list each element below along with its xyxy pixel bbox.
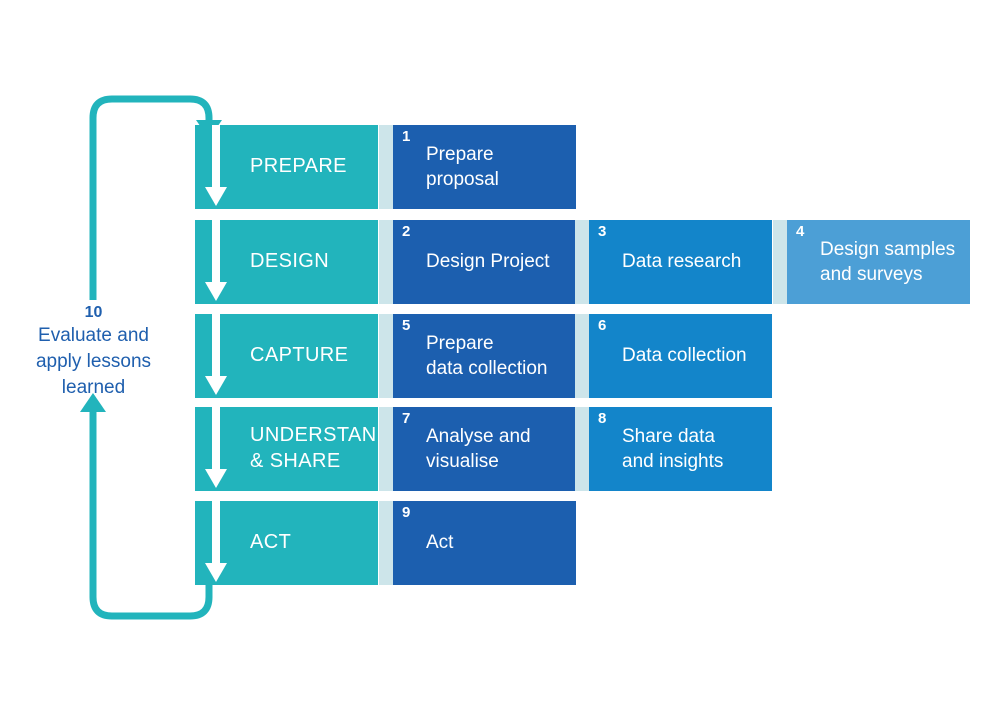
step-number: 9	[402, 505, 410, 520]
step-number: 6	[598, 318, 606, 333]
stage-row: CAPTURE5Prepare data collection6Data col…	[0, 314, 1000, 398]
stage-label: ACT	[250, 530, 291, 556]
spacer-strip	[575, 407, 589, 491]
spacer-strip	[379, 220, 393, 304]
step-label: Prepare proposal	[426, 142, 499, 193]
stage-flow-arrow-icon	[203, 314, 229, 398]
spacer-strip	[773, 220, 787, 304]
step-box-2[interactable]: 2Design Project	[393, 220, 576, 304]
step-number: 1	[402, 129, 410, 144]
stage-label: DESIGN	[250, 249, 329, 275]
spacer-strip	[379, 314, 393, 398]
step-box-8[interactable]: 8Share data and insights	[589, 407, 772, 491]
step-label: Data research	[622, 249, 741, 274]
step-label: Share data and insights	[622, 424, 723, 475]
step-box-3[interactable]: 3Data research	[589, 220, 772, 304]
stage-box-capture[interactable]: CAPTURE	[195, 314, 378, 398]
step-box-1[interactable]: 1Prepare proposal	[393, 125, 576, 209]
stage-box-design[interactable]: DESIGN	[195, 220, 378, 304]
spacer-strip	[379, 407, 393, 491]
stage-row: ACT9Act	[0, 501, 1000, 585]
step-number: 8	[598, 411, 606, 426]
spacer-strip	[575, 314, 589, 398]
step-label: Data collection	[622, 343, 747, 368]
step-box-6[interactable]: 6Data collection	[589, 314, 772, 398]
step-number: 7	[402, 411, 410, 426]
diagram-canvas: 10 Evaluate and apply lessons learned PR…	[0, 0, 1000, 705]
spacer-strip	[379, 125, 393, 209]
stage-label: UNDERSTAND & SHARE	[250, 423, 391, 474]
stage-flow-arrow-icon	[203, 220, 229, 304]
step-box-7[interactable]: 7Analyse and visualise	[393, 407, 576, 491]
stage-label: PREPARE	[250, 154, 347, 180]
stage-flow-arrow-icon	[203, 407, 229, 491]
stage-flow-arrow-icon	[203, 125, 229, 209]
step-label: Analyse and visualise	[426, 424, 531, 475]
step-label: Design samples and surveys	[820, 237, 955, 288]
stage-label: CAPTURE	[250, 343, 348, 369]
stage-flow-arrow-icon	[203, 501, 229, 585]
step-box-9[interactable]: 9Act	[393, 501, 576, 585]
step-number: 2	[402, 224, 410, 239]
step-number: 5	[402, 318, 410, 333]
step-number: 4	[796, 224, 804, 239]
stage-box-act[interactable]: ACT	[195, 501, 378, 585]
stage-box-understand-share[interactable]: UNDERSTAND & SHARE	[195, 407, 378, 491]
step-label: Design Project	[426, 249, 550, 274]
spacer-strip	[575, 220, 589, 304]
stage-row: PREPARE1Prepare proposal	[0, 125, 1000, 209]
stage-row: DESIGN2Design Project3Data research4Desi…	[0, 220, 1000, 304]
stage-box-prepare[interactable]: PREPARE	[195, 125, 378, 209]
step-box-4[interactable]: 4Design samples and surveys	[787, 220, 970, 304]
step-label: Prepare data collection	[426, 331, 547, 382]
step-box-5[interactable]: 5Prepare data collection	[393, 314, 576, 398]
step-label: Act	[426, 530, 453, 555]
spacer-strip	[379, 501, 393, 585]
step-number: 3	[598, 224, 606, 239]
stage-row: UNDERSTAND & SHARE7Analyse and visualise…	[0, 407, 1000, 491]
